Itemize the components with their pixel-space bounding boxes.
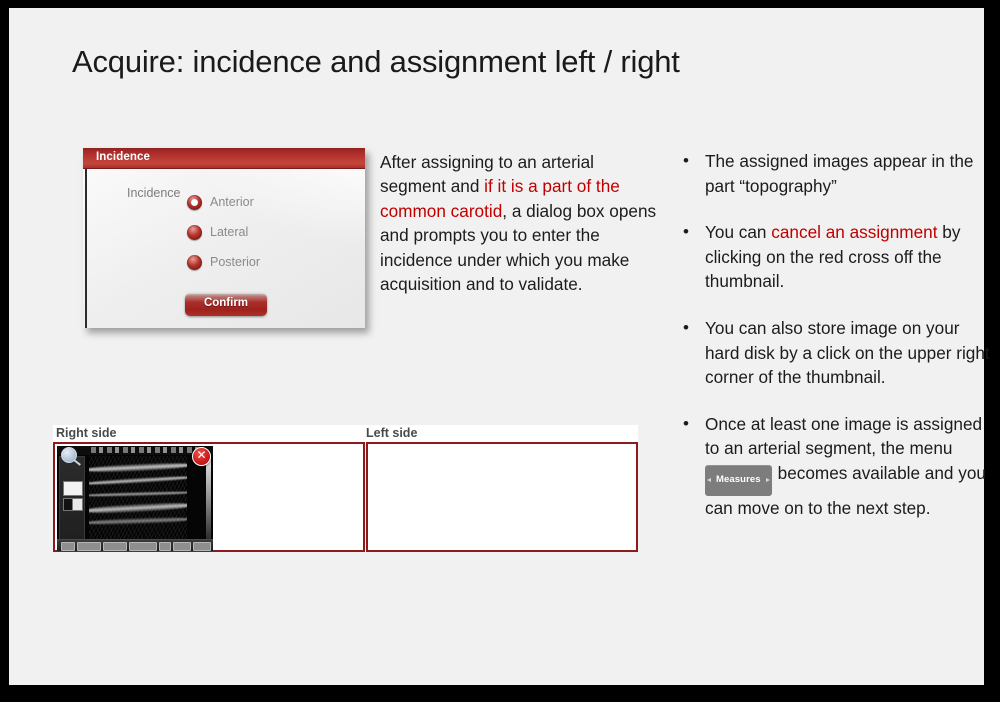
right-side-panel[interactable]: ✕ <box>53 442 365 552</box>
radio-dot-lateral-icon[interactable] <box>187 225 202 240</box>
bullet-marker-icon: • <box>683 220 689 245</box>
bullet-marker-icon: • <box>683 316 689 341</box>
list-item-text: The assigned images appear in the part “… <box>705 151 974 196</box>
radio-label-lateral: Lateral <box>210 225 248 239</box>
middle-paragraph: After assigning to an arterial segment a… <box>380 150 660 296</box>
close-glyph: ✕ <box>193 448 210 465</box>
side-panels: Right side Left side <box>53 425 638 553</box>
bullet-marker-icon: • <box>683 149 689 174</box>
bullet-marker-icon: • <box>683 412 689 437</box>
radio-label-posterior: Posterior <box>210 255 260 269</box>
list-item-text: You can also store image on your hard di… <box>705 318 990 387</box>
incidence-field-label: Incidence <box>127 186 181 200</box>
swatch-split-icon <box>63 498 83 511</box>
list-item: • The assigned images appear in the part… <box>677 149 995 198</box>
toolbar-button <box>173 542 191 551</box>
grayscale-bar <box>206 456 211 540</box>
dialog-left-rule <box>85 169 87 328</box>
bullet-list: • The assigned images appear in the part… <box>677 149 995 542</box>
radio-dot-anterior-icon[interactable] <box>187 195 202 210</box>
list-item-text-part1: Once at least one image is assigned to a… <box>705 414 982 459</box>
thumbnail-bottombar <box>57 539 213 551</box>
slide-canvas: Acquire: incidence and assignment left /… <box>9 8 984 685</box>
swatch-white-icon <box>63 481 83 496</box>
measures-menu-chip[interactable]: Measures <box>705 465 772 496</box>
list-item: •Once at least one image is assigned to … <box>677 412 995 520</box>
toolbar-button <box>193 542 211 551</box>
slide-frame: Acquire: incidence and assignment left /… <box>0 0 1000 702</box>
ultrasound-image <box>89 456 187 540</box>
list-item-text-part1: You can <box>705 222 771 242</box>
speckle-texture <box>89 456 187 540</box>
list-item: • You can also store image on your hard … <box>677 316 995 390</box>
left-side-label: Left side <box>366 426 417 440</box>
toolbar-button <box>129 542 157 551</box>
toolbar-button <box>159 542 171 551</box>
toolbar-button <box>61 542 75 551</box>
incidence-dialog[interactable]: Incidence Incidence Anterior Lateral Pos… <box>83 148 365 328</box>
confirm-button-label: Confirm <box>185 297 267 309</box>
list-item: • You can cancel an assignment by clicki… <box>677 220 995 294</box>
confirm-button[interactable]: Confirm <box>185 293 267 316</box>
toolbar-button <box>103 542 127 551</box>
close-icon[interactable]: ✕ <box>192 447 211 466</box>
page-title: Acquire: incidence and assignment left /… <box>72 44 932 80</box>
radio-label-anterior: Anterior <box>210 195 254 209</box>
list-item-highlight: cancel an assignment <box>771 222 937 242</box>
left-side-panel[interactable] <box>366 442 638 552</box>
dialog-title-text: Incidence <box>96 151 150 163</box>
panel-header-strip: Right side Left side <box>53 425 638 442</box>
radio-dot-posterior-icon[interactable] <box>187 255 202 270</box>
thumbnail-topbar <box>57 446 213 455</box>
right-side-label: Right side <box>56 426 116 440</box>
ultrasound-thumbnail[interactable]: ✕ <box>57 446 213 551</box>
thumbnail-sidebar <box>59 456 85 542</box>
toolbar-button <box>77 542 101 551</box>
dialog-titlebar: Incidence <box>83 148 365 169</box>
topbar-text-placeholder <box>91 447 201 453</box>
